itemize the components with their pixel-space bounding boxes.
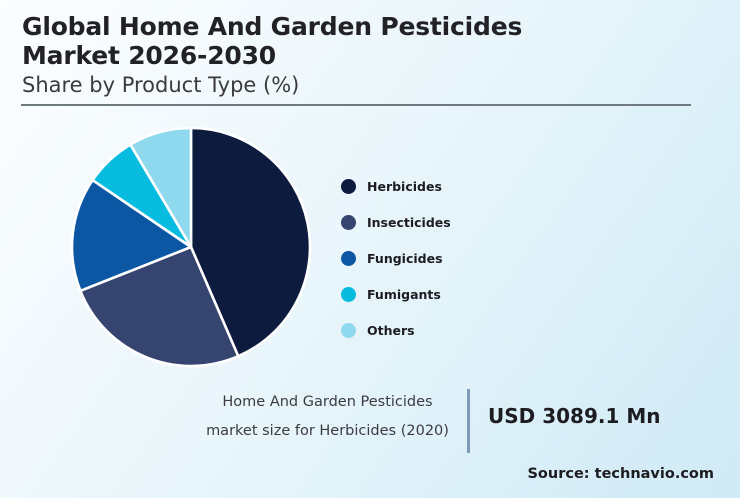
legend-item-label: Herbicides: [367, 179, 442, 194]
header: Global Home And Garden Pesticides Market…: [22, 12, 702, 98]
legend-item-fumigants[interactable]: Fumigants: [341, 276, 541, 312]
legend-item-label: Insecticides: [367, 215, 451, 230]
legend-item-others[interactable]: Others: [341, 312, 541, 348]
infographic-page: Global Home And Garden Pesticides Market…: [0, 0, 740, 498]
legend-swatch-icon: [341, 251, 356, 266]
market-size-callout: Home And Garden Pesticides market size f…: [200, 388, 720, 458]
legend-swatch-icon: [341, 179, 356, 194]
legend-swatch-icon: [341, 215, 356, 230]
title-divider: [21, 104, 691, 106]
page-title: Global Home And Garden Pesticides Market…: [22, 12, 702, 70]
legend-item-label: Fungicides: [367, 251, 443, 266]
pie-slice-group: [72, 128, 310, 366]
pie-chart-svg: [66, 122, 316, 372]
callout-line-2: market size for Herbicides (2020): [200, 417, 455, 446]
legend-item-insecticides[interactable]: Insecticides: [341, 204, 541, 240]
callout-divider: [467, 389, 470, 453]
legend-item-label: Others: [367, 323, 415, 338]
callout-line-1: Home And Garden Pesticides: [200, 388, 455, 417]
legend-item-fungicides[interactable]: Fungicides: [341, 240, 541, 276]
page-subtitle: Share by Product Type (%): [22, 72, 702, 98]
legend-item-label: Fumigants: [367, 287, 441, 302]
legend: Herbicides Insecticides Fungicides Fumig…: [341, 168, 541, 348]
callout-description: Home And Garden Pesticides market size f…: [200, 388, 455, 446]
pie-chart: [66, 122, 316, 372]
legend-swatch-icon: [341, 287, 356, 302]
callout-value: USD 3089.1 Mn: [488, 404, 661, 428]
legend-item-herbicides[interactable]: Herbicides: [341, 168, 541, 204]
legend-swatch-icon: [341, 323, 356, 338]
source-label: Source: technavio.com: [527, 466, 714, 482]
